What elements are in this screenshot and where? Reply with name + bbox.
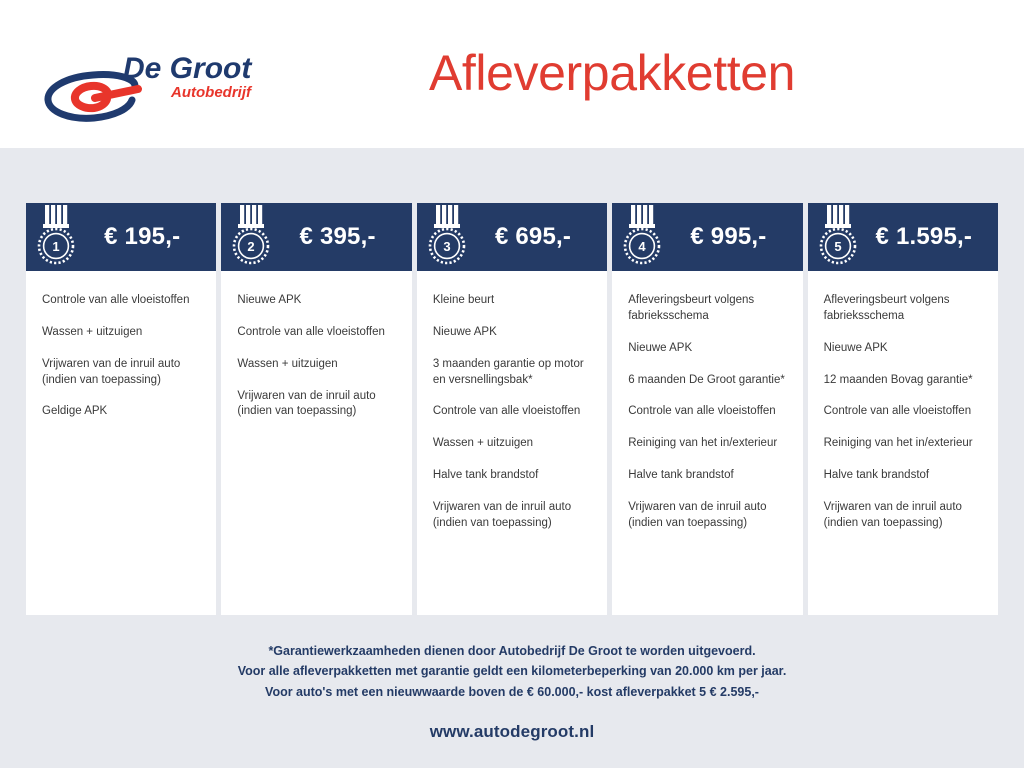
- package-features-5: Afleveringsbeurt volgens fabrieksschema …: [808, 271, 998, 615]
- package-card-1[interactable]: 1 € 195,- Controle van alle vloeistoffen…: [26, 203, 216, 615]
- feature-item: Nieuwe APK: [237, 293, 395, 309]
- feature-item: Controle van alle vloeistoffen: [628, 404, 786, 420]
- feature-item: Wassen + uitzuigen: [433, 436, 591, 452]
- feature-item: Controle van alle vloeistoffen: [237, 325, 395, 341]
- feature-item: Vrijwaren van de inruil auto (indien van…: [824, 500, 982, 532]
- package-features-1: Controle van alle vloeistoffen Wassen + …: [26, 271, 216, 615]
- feature-item: Kleine beurt: [433, 293, 591, 309]
- feature-item: Afleveringsbeurt volgens fabrieksschema: [824, 293, 982, 325]
- feature-item: Halve tank brandstof: [433, 468, 591, 484]
- package-card-5[interactable]: 5 € 1.595,- Afleveringsbeurt volgens fab…: [808, 203, 998, 615]
- footnote-line-2: Voor alle afleverpakketten met garantie …: [0, 661, 1024, 681]
- feature-item: Nieuwe APK: [628, 341, 786, 357]
- package-price: € 395,-: [275, 223, 405, 251]
- page-header: De Groot Autobedrijf Afleverpakketten: [0, 0, 1024, 148]
- package-price: € 195,-: [80, 223, 210, 251]
- package-features-4: Afleveringsbeurt volgens fabrieksschema …: [612, 271, 802, 615]
- package-header-2: 2 € 395,-: [221, 203, 411, 271]
- medal-number: 4: [639, 239, 647, 254]
- feature-item: 12 maanden Bovag garantie*: [824, 373, 982, 389]
- page-footer: *Garantiewerkzaamheden dienen door Autob…: [0, 615, 1024, 768]
- feature-item: 6 maanden De Groot garantie*: [628, 373, 786, 389]
- feature-item: Reiniging van het in/exterieur: [628, 436, 786, 452]
- feature-item: Halve tank brandstof: [824, 468, 982, 484]
- website-link[interactable]: www.autodegroot.nl: [430, 722, 595, 742]
- feature-item: Vrijwaren van de inruil auto (indien van…: [433, 500, 591, 532]
- afleverpakketten-page: De Groot Autobedrijf Afleverpakketten: [0, 0, 1024, 768]
- package-card-4[interactable]: 4 € 995,- Afleveringsbeurt volgens fabri…: [612, 203, 802, 615]
- medal-icon: 4: [620, 203, 666, 267]
- package-card-2[interactable]: 2 € 395,- Nieuwe APK Controle van alle v…: [221, 203, 411, 615]
- footnote-line-1: *Garantiewerkzaamheden dienen door Autob…: [0, 641, 1024, 661]
- package-card-3[interactable]: 3 € 695,- Kleine beurt Nieuwe APK 3 maan…: [417, 203, 607, 615]
- feature-item: Geldige APK: [42, 404, 200, 420]
- feature-item: Vrijwaren van de inruil auto (indien van…: [628, 500, 786, 532]
- feature-item: Reiniging van het in/exterieur: [824, 436, 982, 452]
- feature-item: Afleveringsbeurt volgens fabrieksschema: [628, 293, 786, 325]
- package-features-3: Kleine beurt Nieuwe APK 3 maanden garant…: [417, 271, 607, 615]
- package-header-3: 3 € 695,-: [417, 203, 607, 271]
- medal-icon: 2: [229, 203, 275, 267]
- package-header-1: 1 € 195,-: [26, 203, 216, 271]
- medal-icon: 5: [816, 203, 862, 267]
- medal-icon: 3: [425, 203, 471, 267]
- feature-item: Nieuwe APK: [824, 341, 982, 357]
- medal-number: 2: [248, 239, 255, 254]
- package-price: € 695,-: [471, 223, 601, 251]
- package-price: € 1.595,-: [862, 223, 992, 251]
- medal-icon: 1: [34, 203, 80, 267]
- feature-item: Wassen + uitzuigen: [42, 325, 200, 341]
- medal-number: 5: [834, 239, 841, 254]
- package-features-2: Nieuwe APK Controle van alle vloeistoffe…: [221, 271, 411, 615]
- page-title: Afleverpakketten: [0, 44, 1024, 102]
- feature-item: Controle van alle vloeistoffen: [824, 404, 982, 420]
- package-price: € 995,-: [666, 223, 796, 251]
- package-cards: 1 € 195,- Controle van alle vloeistoffen…: [0, 203, 1024, 615]
- package-header-5: 5 € 1.595,-: [808, 203, 998, 271]
- feature-item: Vrijwaren van de inruil auto (indien van…: [237, 389, 395, 421]
- feature-item: Controle van alle vloeistoffen: [433, 404, 591, 420]
- feature-item: Nieuwe APK: [433, 325, 591, 341]
- feature-item: Halve tank brandstof: [628, 468, 786, 484]
- feature-item: Controle van alle vloeistoffen: [42, 293, 200, 309]
- feature-item: Wassen + uitzuigen: [237, 357, 395, 373]
- feature-item: Vrijwaren van de inruil auto (indien van…: [42, 357, 200, 389]
- feature-item: 3 maanden garantie op motor en versnelli…: [433, 357, 591, 389]
- footnote-line-3: Voor auto's met een nieuwwaarde boven de…: [0, 682, 1024, 702]
- package-header-4: 4 € 995,-: [612, 203, 802, 271]
- medal-number: 1: [52, 239, 59, 254]
- medal-number: 3: [443, 239, 450, 254]
